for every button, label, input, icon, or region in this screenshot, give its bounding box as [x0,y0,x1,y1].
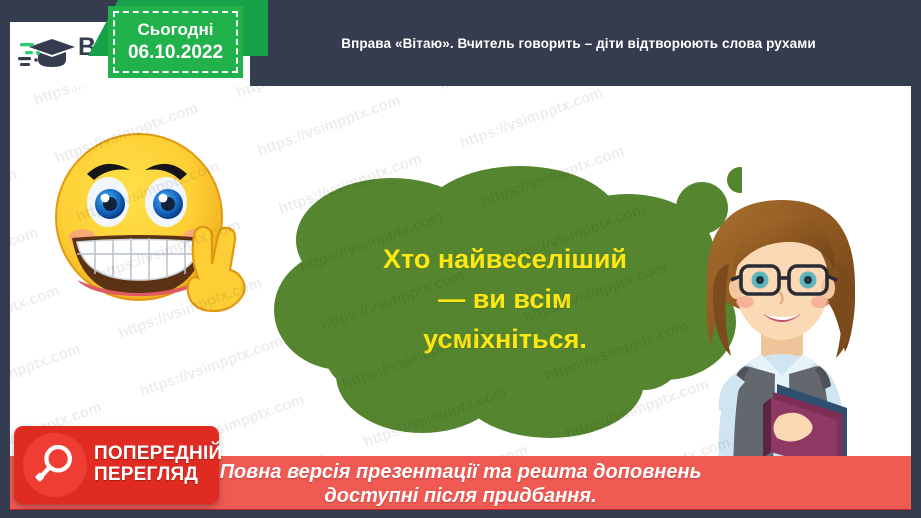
left-edge-rail [0,0,10,518]
banner-line-1: Повна версія презентації та решта доповн… [220,460,702,484]
preview-line-1: ПОПЕРЕДНІЙ [94,444,222,465]
cloud-line-1: Хто найвеселіший [310,240,700,280]
date-value: 06.10.2022 [128,42,223,64]
cloud-message: Хто найвеселіший — ви всім усміхніться. [310,240,700,360]
date-badge: Сьогодні 06.10.2022 [108,6,243,78]
right-edge-rail [911,0,921,518]
page-title: Вправа «Вітаю». Вчитель говорить – діти … [341,36,816,51]
date-label: Сьогодні [138,20,214,40]
magnifier-icon [23,433,87,497]
presentation-slide: Хто найвеселіший — ви всім усміхніться. [0,0,921,518]
preview-badge[interactable]: ПОПЕРЕДНІЙ ПЕРЕГЛЯД [14,426,219,504]
cloud-line-2: — ви всім [310,280,700,320]
bottom-edge-rail [0,510,921,518]
graduation-cap-icon [18,33,76,75]
smiley-face-peace-sign-icon [46,120,261,320]
teacher-woman-with-books-icon [679,180,889,472]
preview-badge-labels: ПОПЕРЕДНІЙ ПЕРЕГЛЯД [94,444,222,485]
preview-line-2: ПЕРЕГЛЯД [94,465,222,486]
purchase-notice-text: Повна версія презентації та решта доповн… [220,460,702,515]
cloud-line-3: усміхніться. [310,320,700,360]
banner-line-2: доступні після придбання. [220,484,702,508]
